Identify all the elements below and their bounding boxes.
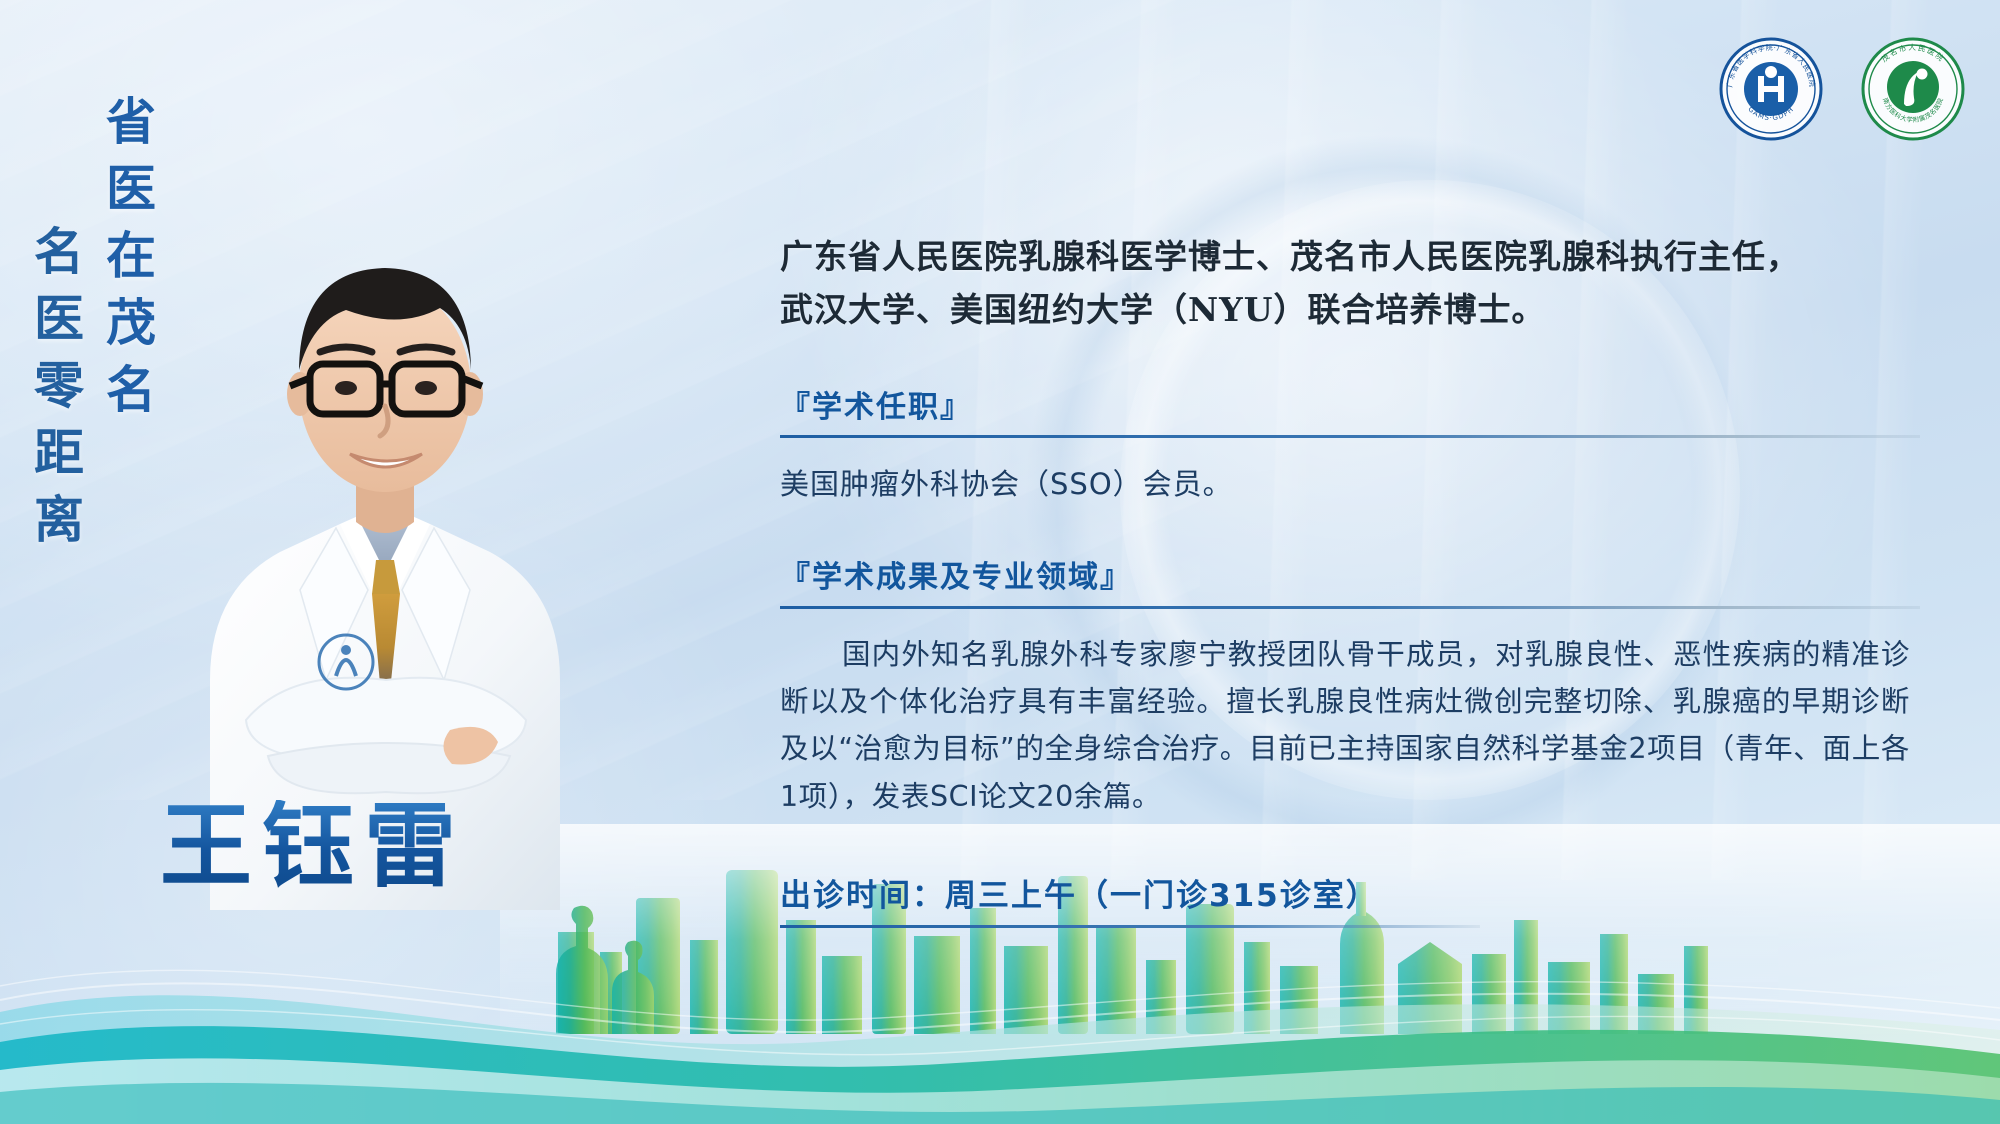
headline-block: 广东省人民医院乳腺科医学博士、茂名市人民医院乳腺科执行主任， 武汉大学、美国纽约… (780, 230, 1920, 337)
profile-content: 广东省人民医院乳腺科医学博士、茂名市人民医院乳腺科执行主任， 武汉大学、美国纽约… (780, 230, 1920, 928)
section-academic-appointments: 『学术任职』 美国肿瘤外科协会（SSO）会员。 (780, 389, 1920, 507)
section-body-achievements: 国内外知名乳腺外科专家廖宁教授团队骨干成员，对乳腺良性、恶性疾病的精准诊断以及个… (780, 631, 1910, 820)
section-body-academic-appointments: 美国肿瘤外科协会（SSO）会员。 (780, 462, 1920, 507)
section-rule (780, 435, 1920, 438)
calligraphy-column-left: 名医零距离 (30, 225, 80, 560)
gams-gdph-logo: 广东省医学科学院·广东省人民医院 GAMS·GDPH (1718, 36, 1824, 142)
hospital-logos: 广东省医学科学院·广东省人民医院 GAMS·GDPH (1718, 36, 1966, 142)
doctor-name: 王钰雷 (160, 800, 466, 892)
section-rule (780, 606, 1920, 609)
maoming-peoples-hospital-logo: 茂名市人民医院 南方医科大学附属茂名医院 (1860, 36, 1966, 142)
calligraphy-slogan: 省医在茂名 名医零距离 (30, 95, 152, 560)
headline-line-2: 武汉大学、美国纽约大学（NYU）联合培养博士。 (780, 283, 1920, 336)
section-title-academic-appointments: 『学术任职』 (780, 389, 1920, 427)
poster-root: 省医在茂名 名医零距离 (0, 0, 2000, 1124)
clinic-schedule-rule (780, 925, 1480, 928)
calligraphy-column-right: 省医在茂名 (102, 95, 152, 560)
headline-line-1: 广东省人民医院乳腺科医学博士、茂名市人民医院乳腺科执行主任， (780, 230, 1920, 283)
clinic-schedule: 出诊时间：周三上午（一门诊315诊室） (780, 876, 1480, 928)
section-achievements: 『学术成果及专业领域』 国内外知名乳腺外科专家廖宁教授团队骨干成员，对乳腺良性、… (780, 559, 1920, 820)
section-title-achievements: 『学术成果及专业领域』 (780, 559, 1920, 597)
clinic-schedule-label: 出诊时间：周三上午（一门诊315诊室） (780, 876, 1480, 916)
